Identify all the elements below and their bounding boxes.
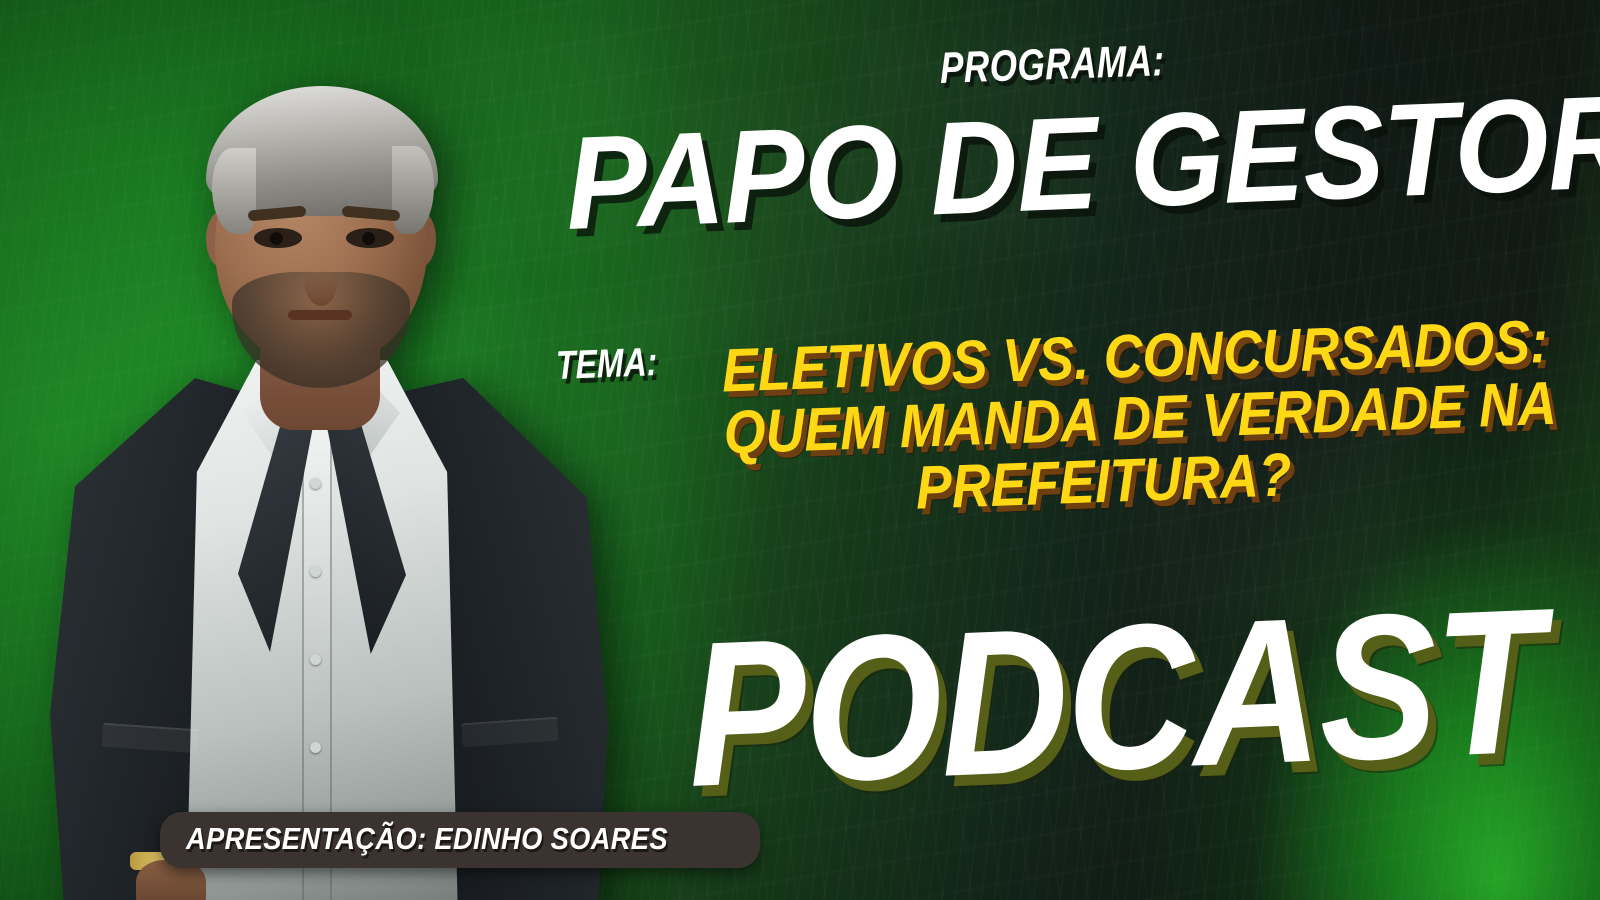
topic-label: TEMA:: [555, 340, 657, 389]
shirt-button: [310, 654, 321, 665]
topic-headline: ELETIVOS VS. CONCURSADOS: QUEM MANDA DE …: [721, 313, 1483, 527]
host-portrait-photo: [10, 60, 630, 900]
host-credit-text: APRESENTAÇÃO: EDINHO SOARES: [186, 821, 668, 857]
shirt-button: [310, 742, 321, 753]
format-label-podcast: PODCAST: [685, 577, 1545, 818]
eye-left: [254, 228, 302, 248]
program-label: PROGRAMA:: [939, 36, 1165, 94]
eye-right: [346, 228, 394, 248]
hair: [206, 86, 438, 216]
host-credit-badge: APRESENTAÇÃO: EDINHO SOARES: [160, 812, 760, 868]
nose: [304, 252, 338, 306]
shirt-button: [310, 566, 321, 577]
mouth: [288, 310, 352, 320]
shirt-button: [310, 478, 321, 489]
podcast-cover-poster: PROGRAMA: PAPO DE GESTOR TEMA: ELETIVOS …: [0, 0, 1600, 900]
program-title: PAPO DE GESTOR: [564, 81, 1497, 250]
